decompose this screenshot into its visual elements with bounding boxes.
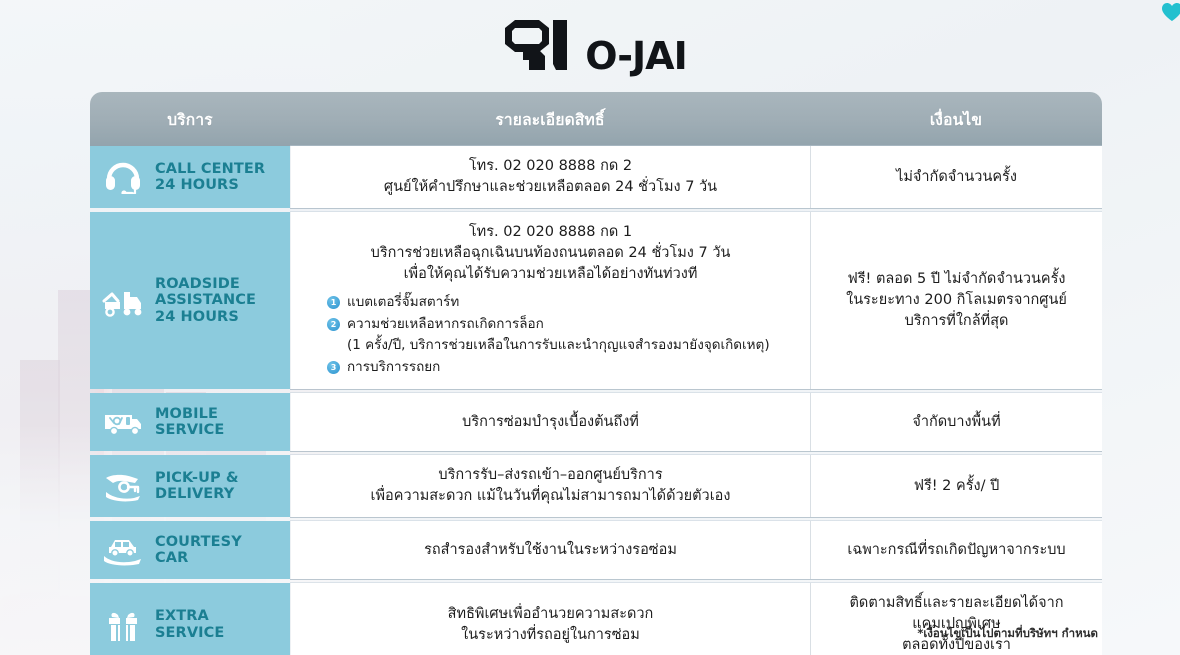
service-label: CALL CENTER 24 HOURS: [155, 161, 265, 193]
condition-cell: จำกัดบางพื้นที่: [811, 393, 1102, 451]
condition-text: ไม่จำกัดจำนวนครั้ง: [896, 167, 1017, 188]
building-2: [20, 360, 60, 600]
service-cell-roadside: ROADSIDE ASSISTANCE 24 HOURS: [90, 212, 290, 389]
tow-truck-icon: [100, 280, 146, 322]
table-row: CALL CENTER 24 HOURS โทร. 02 020 8888 กด…: [90, 146, 1102, 208]
table-row: MOBILE SERVICE บริการซ่อมบำรุงเบื้องต้นถ…: [90, 393, 1102, 451]
condition-cell: เฉพาะกรณีที่รถเกิดปัญหาจากระบบ: [811, 521, 1102, 579]
brand-logo: O-JAI: [0, 18, 1180, 76]
service-cell-mobile-service: MOBILE SERVICE: [90, 393, 290, 451]
info-cell: บริการซ่อมบำรุงเบื้องต้นถึงที่ จำกัดบางพ…: [290, 393, 1102, 451]
bullet-text: การบริการรถยก: [347, 357, 440, 377]
detail-cell: โทร. 02 020 8888 กด 2 ศูนย์ให้คำปรึกษาแล…: [291, 146, 811, 208]
detail-bullet-list: 1 แบตเตอรี่จั๊มสตาร์ท 2 ความช่วยเหลือหาก…: [305, 292, 796, 379]
info-cell: รถสำรองสำหรับใช้งานในระหว่างรอซ่อม เฉพาะ…: [290, 521, 1102, 579]
table-row: EXTRA SERVICE สิทธิพิเศษเพื่ออำนวยความสะ…: [90, 583, 1102, 655]
info-cell: โทร. 02 020 8888 กด 2 ศูนย์ให้คำปรึกษาแล…: [290, 146, 1102, 208]
mobile-van-icon: [100, 401, 146, 443]
column-header-detail: รายละเอียดสิทธิ์: [290, 92, 810, 146]
bullet-text: แบตเตอรี่จั๊มสตาร์ท: [347, 292, 459, 312]
condition-text: ฟรี! 2 ครั้ง/ ปี: [914, 476, 1000, 497]
detail-cell: รถสำรองสำหรับใช้งานในระหว่างรอซ่อม: [291, 521, 811, 579]
table-body: CALL CENTER 24 HOURS โทร. 02 020 8888 กด…: [90, 146, 1102, 655]
hand-key-icon: [100, 465, 146, 507]
o-jai-monogram-icon: [493, 18, 585, 76]
hand-car-icon: [100, 529, 146, 571]
gift-icon: [100, 604, 146, 646]
table-row: COURTESY CAR รถสำรองสำหรับใช้งานในระหว่า…: [90, 521, 1102, 579]
service-cell-call-center: CALL CENTER 24 HOURS: [90, 146, 290, 208]
list-item: 3 การบริการรถยก: [327, 357, 796, 377]
info-cell: สิทธิพิเศษเพื่ออำนวยความสะดวก ในระหว่างท…: [290, 583, 1102, 655]
service-label: ROADSIDE ASSISTANCE 24 HOURS: [155, 276, 256, 325]
service-label: MOBILE SERVICE: [155, 406, 224, 438]
service-cell-courtesy-car: COURTESY CAR: [90, 521, 290, 579]
column-header-service: บริการ: [90, 92, 290, 146]
info-cell: บริการรับ–ส่งรถเข้า–ออกศูนย์บริการ เพื่อ…: [290, 455, 1102, 517]
detail-text: โทร. 02 020 8888 กด 1 บริการช่วยเหลือฉุก…: [305, 222, 796, 285]
benefits-table: บริการ รายละเอียดสิทธิ์ เงื่อนไข CALL CE…: [90, 92, 1102, 655]
logo-wordmark: O-JAI: [585, 37, 686, 75]
bullet-number-badge: 1: [327, 296, 340, 309]
condition-cell: ติดตามสิทธิ์และรายละเอียดได้จากแคมเปญพิเ…: [811, 583, 1102, 655]
detail-cell: บริการซ่อมบำรุงเบื้องต้นถึงที่: [291, 393, 811, 451]
detail-text: บริการซ่อมบำรุงเบื้องต้นถึงที่: [305, 412, 796, 433]
bullet-number-badge: 3: [327, 361, 340, 374]
condition-text: จำกัดบางพื้นที่: [912, 412, 1000, 433]
bullet-number-badge: 2: [327, 318, 340, 331]
detail-text: โทร. 02 020 8888 กด 2 ศูนย์ให้คำปรึกษาแล…: [305, 156, 796, 198]
detail-cell: สิทธิพิเศษเพื่ออำนวยความสะดวก ในระหว่างท…: [291, 583, 811, 655]
service-label: PICK-UP & DELIVERY: [155, 470, 239, 502]
bullet-text: ความช่วยเหลือหากรถเกิดการล็อก (1 ครั้ง/ป…: [347, 314, 770, 355]
service-label: EXTRA SERVICE: [155, 608, 224, 640]
list-item: 2 ความช่วยเหลือหากรถเกิดการล็อก (1 ครั้ง…: [327, 314, 796, 355]
detail-cell: โทร. 02 020 8888 กด 1 บริการช่วยเหลือฉุก…: [291, 212, 811, 389]
condition-cell: ฟรี! 2 ครั้ง/ ปี: [811, 455, 1102, 517]
condition-cell: ไม่จำกัดจำนวนครั้ง: [811, 146, 1102, 208]
detail-cell: บริการรับ–ส่งรถเข้า–ออกศูนย์บริการ เพื่อ…: [291, 455, 811, 517]
column-header-condition: เงื่อนไข: [810, 92, 1102, 146]
service-label: COURTESY CAR: [155, 534, 242, 566]
detail-text: สิทธิพิเศษเพื่ออำนวยความสะดวก ในระหว่างท…: [305, 604, 796, 646]
heart-icon: [1161, 2, 1180, 22]
detail-text: รถสำรองสำหรับใช้งานในระหว่างรอซ่อม: [305, 540, 796, 561]
list-item: 1 แบตเตอรี่จั๊มสตาร์ท: [327, 292, 796, 312]
table-row: ROADSIDE ASSISTANCE 24 HOURS โทร. 02 020…: [90, 212, 1102, 389]
condition-text: ฟรี! ตลอด 5 ปี ไม่จำกัดจำนวนครั้ง ในระยะ…: [827, 269, 1086, 332]
headset-icon: [100, 156, 146, 198]
table-row: PICK-UP & DELIVERY บริการรับ–ส่งรถเข้า–อ…: [90, 455, 1102, 517]
table-header-row: บริการ รายละเอียดสิทธิ์ เงื่อนไข: [90, 92, 1102, 146]
detail-text: บริการรับ–ส่งรถเข้า–ออกศูนย์บริการ เพื่อ…: [305, 465, 796, 507]
condition-cell: ฟรี! ตลอด 5 ปี ไม่จำกัดจำนวนครั้ง ในระยะ…: [811, 212, 1102, 389]
condition-text: เฉพาะกรณีที่รถเกิดปัญหาจากระบบ: [847, 540, 1065, 561]
footnote-disclaimer: *เงื่อนไขเป็นไปตามที่บริษัทฯ กำหนด: [917, 625, 1098, 643]
info-cell: โทร. 02 020 8888 กด 1 บริการช่วยเหลือฉุก…: [290, 212, 1102, 389]
service-cell-extra-service: EXTRA SERVICE: [90, 583, 290, 655]
service-cell-pickup-delivery: PICK-UP & DELIVERY: [90, 455, 290, 517]
